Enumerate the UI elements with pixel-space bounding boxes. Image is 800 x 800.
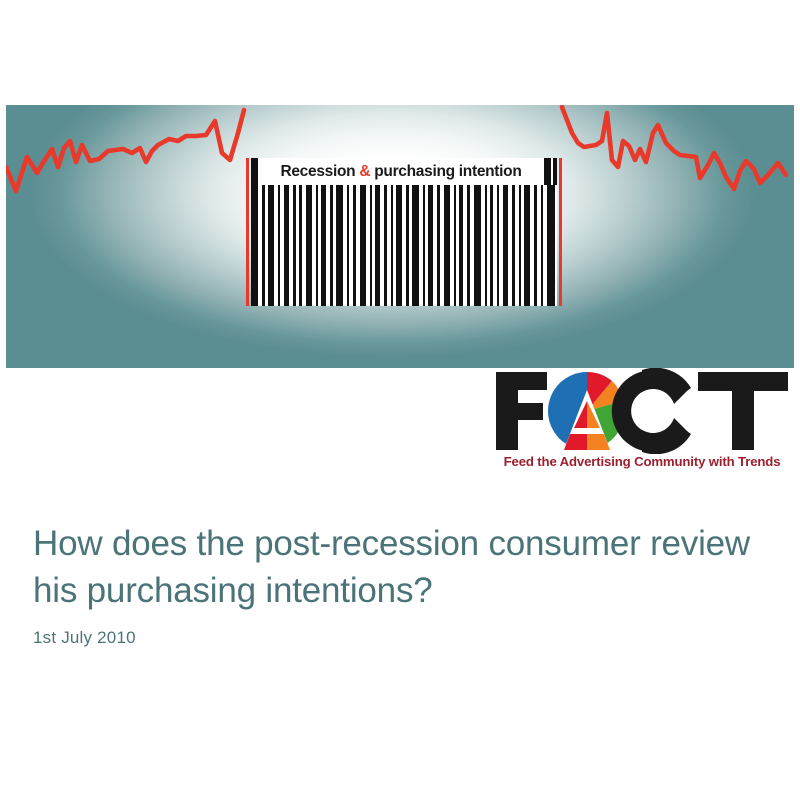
trendline-left [6,110,244,191]
fact-letter-f [496,372,547,450]
page-title: How does the post-recession consumer rev… [33,520,763,614]
presentation-date: 1st July 2010 [33,628,136,648]
fact-logo: Feed the Advertising Community with Tren… [492,368,792,480]
hero-banner: Recession & purchasing intention [6,105,794,368]
fact-letter-c [612,368,691,454]
barcode-caption-suffix: purchasing intention [370,163,521,180]
fact-tagline: Feed the Advertising Community with Tren… [492,454,792,469]
trendline-right [562,107,786,189]
barcode-guard-right-b [553,158,557,185]
barcode-label-bar: Recession & purchasing intention [251,158,557,185]
barcode-left-rail [246,158,249,306]
barcode-bars [251,185,557,306]
barcode-graphic: Recession & purchasing intention [246,158,562,306]
barcode-bar-set [251,185,557,306]
barcode-guard-right-a [544,158,551,185]
title-block: How does the post-recession consumer rev… [33,520,763,614]
barcode-caption: Recession & purchasing intention [258,158,544,185]
barcode-caption-prefix: Recession [280,163,359,180]
fact-wordmark [492,368,792,454]
hero-artwork: Recession & purchasing intention [6,105,794,368]
slide-root: Recession & purchasing intention [0,0,800,800]
barcode-guard-left [251,158,258,185]
fact-letter-t [698,372,788,450]
barcode-caption-ampersand: & [359,163,370,180]
barcode-right-rail [559,158,562,306]
